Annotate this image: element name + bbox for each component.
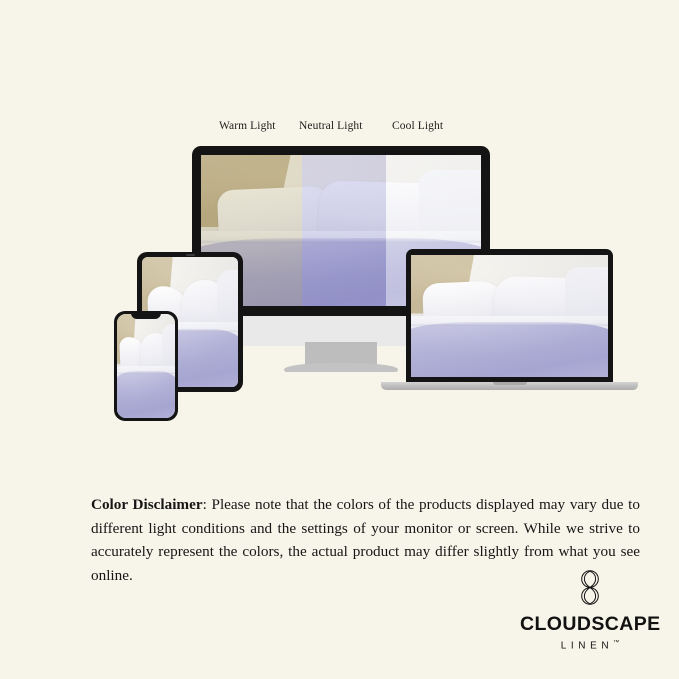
bed-duvet [411, 322, 608, 377]
laptop-screen [411, 255, 608, 377]
brand-lockup: CLOUDSCAPE LINEN™ [520, 568, 660, 653]
bed-duvet [117, 371, 175, 418]
bed-duvet-fold [117, 371, 175, 374]
color-disclaimer-separator: : [203, 496, 212, 513]
brand-subtitle: LINEN™ [561, 640, 619, 651]
color-disclaimer-label: Color Disclaimer [91, 496, 203, 513]
bed-duvet-fold [411, 322, 608, 326]
brand-name: CLOUDSCAPE [520, 615, 660, 635]
device-phone [114, 311, 178, 421]
product-image-laptop [411, 255, 608, 377]
monitor-stand-base [284, 363, 398, 372]
trademark-symbol: ™ [613, 640, 619, 646]
infinity-loop-logo-icon [575, 568, 605, 608]
device-laptop [406, 249, 613, 384]
page-root: Warm Light Neutral Light Cool Light [0, 0, 679, 679]
tablet-camera-icon [186, 254, 195, 256]
phone-notch [131, 311, 161, 319]
product-image-phone [117, 314, 175, 418]
phone-screen [117, 314, 175, 418]
bed-duvet-fold [201, 238, 481, 243]
laptop-base [381, 382, 638, 390]
laptop-trackpad-notch [493, 382, 527, 385]
brand-subtitle-text: LINEN [561, 640, 613, 651]
device-mockup-group [0, 0, 679, 460]
